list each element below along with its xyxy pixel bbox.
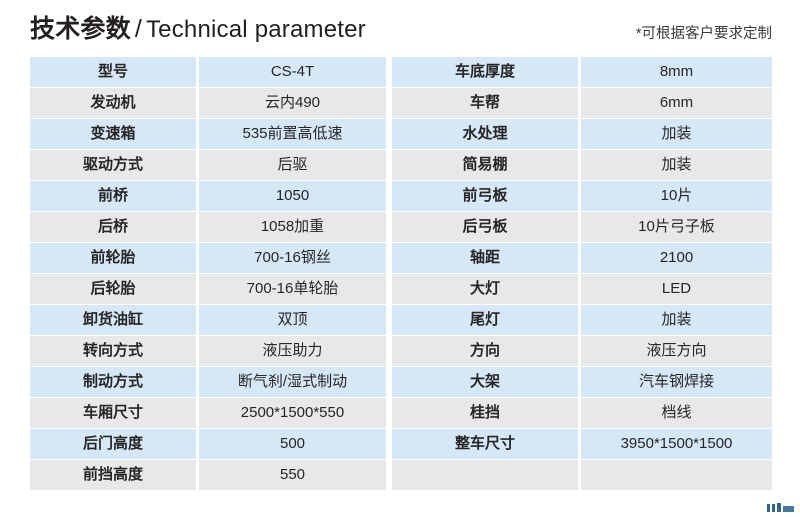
watermark-bar-3 [777, 503, 781, 512]
spec-right-value: 加装 [581, 119, 772, 149]
watermark-bar-2 [772, 504, 775, 512]
page-title-cn: 技术参数 [30, 15, 131, 43]
page-header: 技术参数/Technical parameter *可根据客户要求定制 [0, 0, 800, 56]
table-row: 后弓板10片弓子板 [392, 212, 772, 242]
spec-right-label: 水处理 [392, 119, 578, 149]
spec-left-value: 700-16钢丝 [199, 243, 386, 273]
table-row: 前轮胎700-16钢丝 [30, 243, 386, 273]
spec-left-value: 液压助力 [199, 336, 386, 366]
spec-left-value: 2500*1500*550 [199, 398, 386, 428]
spec-left-label: 前桥 [30, 181, 196, 211]
table-row: 大架汽车钢焊接 [392, 367, 772, 397]
watermark-bar-4 [783, 506, 794, 512]
table-row: 型号CS-4T [30, 57, 386, 87]
spec-left-label: 发动机 [30, 88, 196, 118]
table-row: 变速箱535前置高低速 [30, 119, 386, 149]
spec-left-value: 双顶 [199, 305, 386, 335]
spec-left-label: 变速箱 [30, 119, 196, 149]
page-title-en: Technical parameter [146, 16, 366, 43]
table-row: 转向方式液压助力 [30, 336, 386, 366]
spec-left-value: 500 [199, 429, 386, 459]
spec-right-label: 后弓板 [392, 212, 578, 242]
table-row: 简易棚加装 [392, 150, 772, 180]
table-row: 驱动方式后驱 [30, 150, 386, 180]
table-row [392, 460, 772, 490]
spec-right-value: 2100 [581, 243, 772, 273]
table-row: 制动方式断气刹/湿式制动 [30, 367, 386, 397]
watermark-bar-1 [767, 504, 770, 512]
table-row: 轴距2100 [392, 243, 772, 273]
spec-left-label: 驱动方式 [30, 150, 196, 180]
spec-right-label: 大灯 [392, 274, 578, 304]
spec-right-label: 车底厚度 [392, 57, 578, 87]
spec-right-value: 档线 [581, 398, 772, 428]
spec-table-right: 车底厚度8mm车帮6mm水处理加装简易棚加装前弓板10片后弓板10片弓子板轴距2… [392, 57, 772, 491]
title-separator: / [135, 15, 142, 43]
spec-right-label: 桂挡 [392, 398, 578, 428]
table-row: 尾灯加装 [392, 305, 772, 335]
table-row: 水处理加装 [392, 119, 772, 149]
spec-left-label: 前挡高度 [30, 460, 196, 490]
table-row: 车底厚度8mm [392, 57, 772, 87]
spec-right-value: LED [581, 274, 772, 304]
table-row: 方向液压方向 [392, 336, 772, 366]
spec-left-label: 前轮胎 [30, 243, 196, 273]
page-title: 技术参数/Technical parameter [30, 12, 366, 47]
spec-left-value: 535前置高低速 [199, 119, 386, 149]
spec-left-label: 后轮胎 [30, 274, 196, 304]
spec-right-value: 6mm [581, 88, 772, 118]
spec-left-label: 型号 [30, 57, 196, 87]
spec-right-label: 前弓板 [392, 181, 578, 211]
table-row: 后桥1058加重 [30, 212, 386, 242]
spec-left-value: 700-16单轮胎 [199, 274, 386, 304]
spec-right-value: 液压方向 [581, 336, 772, 366]
table-row: 桂挡档线 [392, 398, 772, 428]
spec-right-value: 10片弓子板 [581, 212, 772, 242]
spec-right-label: 车帮 [392, 88, 578, 118]
spec-right-value: 3950*1500*1500 [581, 429, 772, 459]
table-row: 前桥1050 [30, 181, 386, 211]
spec-left-value: 云内490 [199, 88, 386, 118]
table-row: 后轮胎700-16单轮胎 [30, 274, 386, 304]
spec-left-label: 卸货油缸 [30, 305, 196, 335]
spec-right-label: 简易棚 [392, 150, 578, 180]
spec-left-value: 1050 [199, 181, 386, 211]
table-row: 卸货油缸双顶 [30, 305, 386, 335]
spec-left-label: 后门高度 [30, 429, 196, 459]
table-row: 前弓板10片 [392, 181, 772, 211]
spec-right-value: 加装 [581, 305, 772, 335]
spec-left-label: 制动方式 [30, 367, 196, 397]
spec-right-label [392, 460, 578, 490]
table-row: 前挡高度550 [30, 460, 386, 490]
spec-left-value: 后驱 [199, 150, 386, 180]
spec-right-value: 8mm [581, 57, 772, 87]
table-row: 车厢尺寸2500*1500*550 [30, 398, 386, 428]
table-row: 整车尺寸3950*1500*1500 [392, 429, 772, 459]
spec-left-label: 转向方式 [30, 336, 196, 366]
table-row: 大灯LED [392, 274, 772, 304]
customization-note: *可根据客户要求定制 [636, 24, 772, 44]
spec-left-label: 后桥 [30, 212, 196, 242]
spec-right-label: 大架 [392, 367, 578, 397]
spec-left-value: 断气刹/湿式制动 [199, 367, 386, 397]
spec-right-value [581, 460, 772, 490]
spec-right-value: 10片 [581, 181, 772, 211]
table-row: 发动机云内490 [30, 88, 386, 118]
spec-table-left: 型号CS-4T发动机云内490变速箱535前置高低速驱动方式后驱前桥1050后桥… [30, 57, 386, 491]
spec-right-label: 整车尺寸 [392, 429, 578, 459]
spec-left-value: 1058加重 [199, 212, 386, 242]
spec-right-label: 尾灯 [392, 305, 578, 335]
spec-left-label: 车厢尺寸 [30, 398, 196, 428]
table-row: 车帮6mm [392, 88, 772, 118]
spec-left-value: CS-4T [199, 57, 386, 87]
spec-right-value: 汽车钢焊接 [581, 367, 772, 397]
spec-left-value: 550 [199, 460, 386, 490]
spec-right-label: 轴距 [392, 243, 578, 273]
spec-right-value: 加装 [581, 150, 772, 180]
spec-right-label: 方向 [392, 336, 578, 366]
table-row: 后门高度500 [30, 429, 386, 459]
watermark-logo [767, 503, 794, 512]
